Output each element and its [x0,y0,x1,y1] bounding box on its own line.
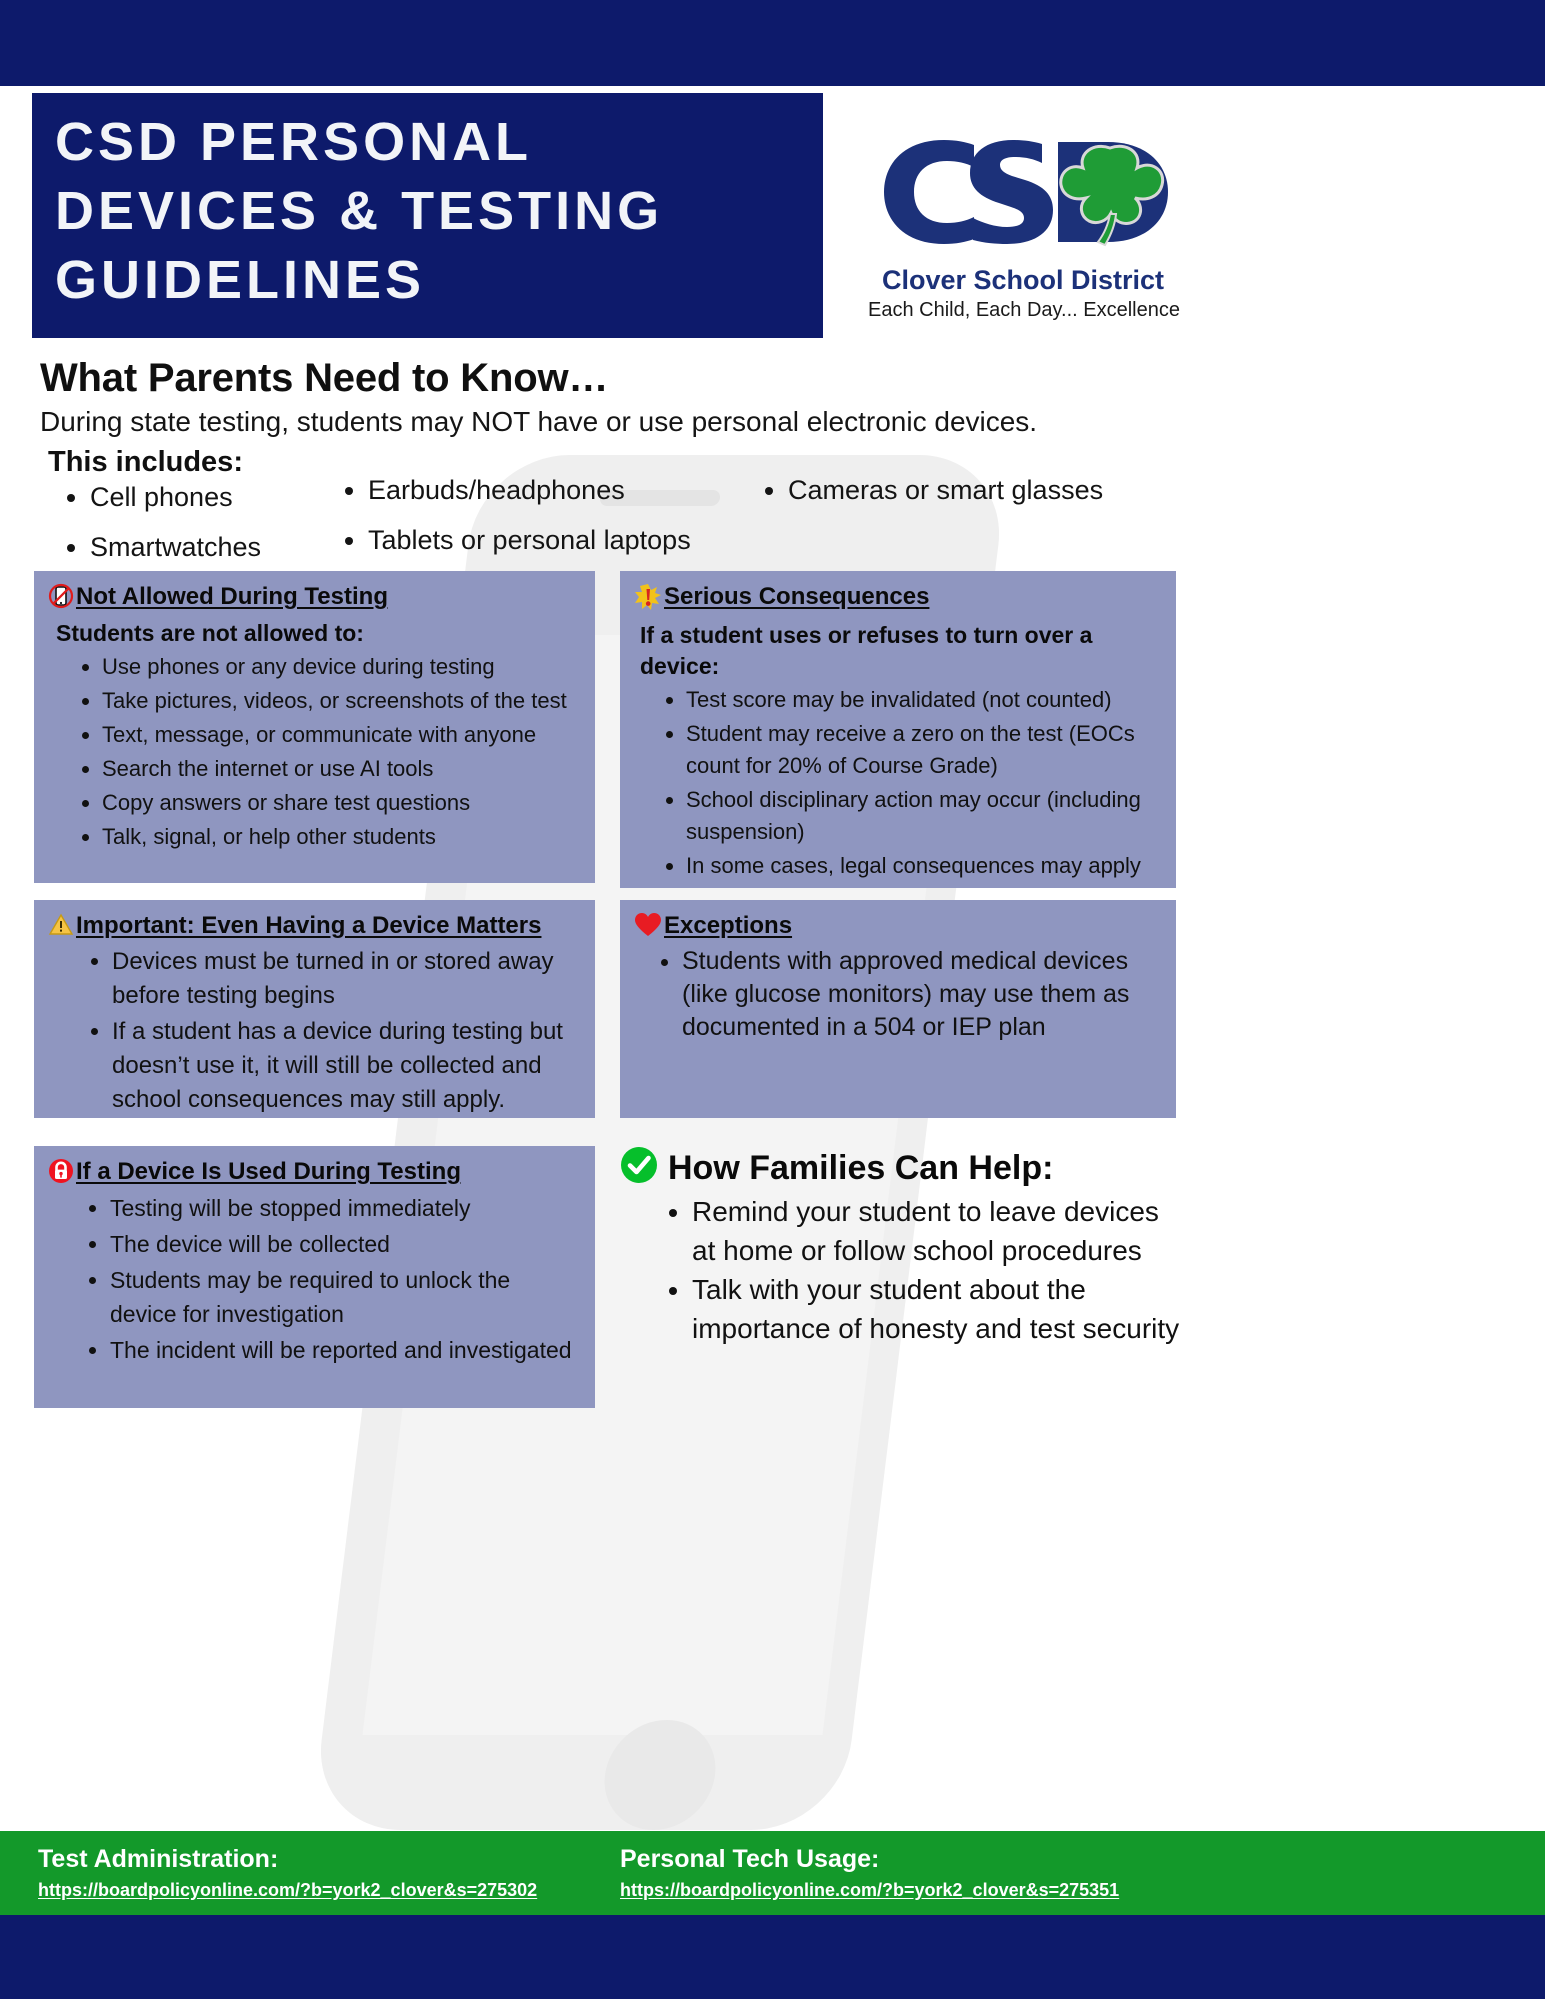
footer-band: Test Administration: https://boardpolicy… [0,1831,1545,1915]
list-item: Copy answers or share test questions [102,787,579,819]
card-exceptions-title: Exceptions [664,912,792,940]
csd-logo-mark [858,122,1188,262]
list-item: Tablets or personal laptops [368,515,691,565]
list-item: In some cases, legal consequences may ap… [686,850,1160,882]
card-device-used-list: Testing will be stopped immediately The … [34,1191,595,1367]
list-item: Talk with your student about the importa… [692,1270,1190,1348]
includes-column-1: Cell phones Smartwatches [52,472,261,572]
card-consequences-title: Serious Consequences [664,583,929,611]
warning-triangle-icon [48,912,74,943]
card-not-allowed-subtitle: Students are not allowed to: [34,614,595,649]
list-item: Cell phones [90,472,261,522]
card-device-used-header: If a Device Is Used During Testing [34,1146,595,1189]
list-item: Testing will be stopped immediately [110,1191,579,1225]
list-item: Search the internet or use AI tools [102,753,579,785]
how-families-can-help: How Families Can Help: Remind your stude… [620,1146,1190,1348]
exclamation-collision-icon [634,583,662,616]
card-not-allowed-header: Not Allowed During Testing [34,571,595,614]
list-item: The incident will be reported and invest… [110,1333,579,1367]
bottom-navy-band [0,1915,1545,1999]
logo-tagline: Each Child, Each Day... Excellence [850,299,1198,322]
section-subheading: During state testing, students may NOT h… [40,406,1037,438]
list-item: Use phones or any device during testing [102,651,579,683]
card-important: Important: Even Having a Device Matters … [34,900,595,1118]
list-item: Cameras or smart glasses [788,465,1103,515]
includes-column-3: Cameras or smart glasses [750,465,1103,515]
list-item: School disciplinary action may occur (in… [686,784,1160,848]
card-consequences: Serious Consequences If a student uses o… [620,571,1176,888]
card-consequences-list: Test score may be invalidated (not count… [620,684,1176,882]
list-item: Students may be required to unlock the d… [110,1263,579,1331]
card-exceptions-header: Exceptions [620,900,1176,943]
help-header: How Families Can Help: [620,1146,1190,1190]
list-item: Smartwatches [90,522,261,572]
footer-left-link[interactable]: https://boardpolicyonline.com/?b=york2_c… [38,1880,537,1901]
list-item: Remind your student to leave devices at … [692,1192,1190,1270]
green-check-circle-icon [620,1146,658,1190]
red-lock-icon [48,1158,74,1189]
no-mobile-phones-icon [48,583,74,614]
list-item: Take pictures, videos, or screenshots of… [102,685,579,717]
footer-column-test-administration: Test Administration: https://boardpolicy… [38,1845,537,1901]
card-not-allowed: Not Allowed During Testing Students are … [34,571,595,883]
footer-left-title: Test Administration: [38,1845,537,1874]
red-heart-icon [634,912,662,943]
card-important-header: Important: Even Having a Device Matters [34,900,595,943]
help-title: How Families Can Help: [668,1149,1053,1188]
card-not-allowed-title: Not Allowed During Testing [76,583,388,611]
card-important-title: Important: Even Having a Device Matters [76,912,541,940]
list-item: Test score may be invalidated (not count… [686,684,1160,716]
list-item: Students with approved medical devices (… [682,945,1160,1044]
list-item: Text, message, or communicate with anyon… [102,719,579,751]
card-device-used-title: If a Device Is Used During Testing [76,1158,461,1186]
card-not-allowed-list: Use phones or any device during testing … [34,651,595,853]
district-logo: Clover School District Each Child, Each … [858,122,1188,322]
list-item: Talk, signal, or help other students [102,821,579,853]
footer-right-link[interactable]: https://boardpolicyonline.com/?b=york2_c… [620,1880,1119,1901]
footer-column-personal-tech-usage: Personal Tech Usage: https://boardpolicy… [620,1845,1119,1901]
card-important-list: Devices must be turned in or stored away… [34,945,595,1117]
list-item: Earbuds/headphones [368,465,691,515]
list-item: Devices must be turned in or stored away… [112,945,579,1013]
list-item: The device will be collected [110,1227,579,1261]
card-device-used: If a Device Is Used During Testing Testi… [34,1146,595,1408]
card-exceptions: Exceptions Students with approved medica… [620,900,1176,1118]
list-item: If a student has a device during testing… [112,1015,579,1117]
footer-right-title: Personal Tech Usage: [620,1845,1119,1874]
section-heading: What Parents Need to Know… [40,356,608,401]
card-consequences-subtitle: If a student uses or refuses to turn ove… [620,616,1176,682]
logo-district-name: Clover School District [858,265,1188,296]
list-item: Student may receive a zero on the test (… [686,718,1160,782]
page-title: CSD PERSONAL DEVICES & TESTING GUIDELINE… [55,108,815,315]
card-exceptions-list: Students with approved medical devices (… [620,945,1176,1044]
help-list: Remind your student to leave devices at … [620,1192,1190,1348]
card-consequences-header: Serious Consequences [620,571,1176,616]
includes-column-2: Earbuds/headphones Tablets or personal l… [330,465,691,565]
top-navy-band [0,0,1545,86]
